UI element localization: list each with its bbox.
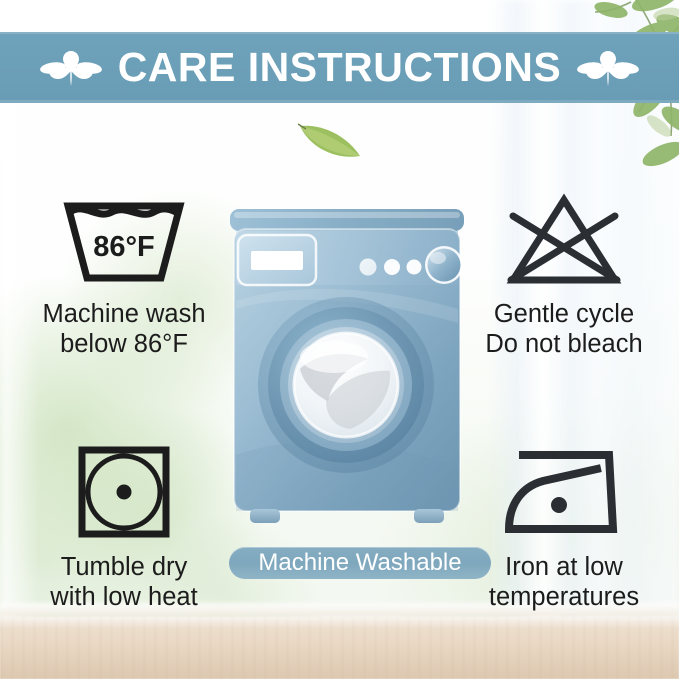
iron-icon <box>455 440 673 544</box>
wash-tub-icon: 86°F <box>14 188 234 292</box>
wash-tub-temperature-label: 86°F <box>93 231 155 263</box>
care-instructions-banner: CARE INSTRUCTIONS <box>0 32 679 103</box>
caption-line-2: temperatures <box>455 583 673 613</box>
do-not-bleach-triangle-icon <box>455 188 673 292</box>
machine-washable-badge: Machine Washable <box>229 547 491 579</box>
caption-line-1: Tumble dry <box>14 553 234 583</box>
floating-leaf-icon <box>296 116 366 162</box>
caption-line-1: Machine wash <box>14 300 234 330</box>
machine-washable-label: Machine Washable <box>258 551 461 575</box>
caption-line-2: with low heat <box>14 583 234 613</box>
wooden-table-surface <box>0 617 679 679</box>
fleur-de-lis-icon-left <box>40 44 102 92</box>
caption-line-2: Do not bleach <box>455 330 673 360</box>
care-icon-do-not-bleach: Gentle cycle Do not bleach <box>455 188 673 360</box>
care-icon-machine-wash: 86°F Machine wash below 86°F <box>14 188 234 360</box>
washing-machine-illustration <box>222 205 472 535</box>
caption-line-1: Gentle cycle <box>455 300 673 330</box>
caption-line-2: below 86°F <box>14 330 234 360</box>
care-icon-iron-low: Iron at low temperatures <box>455 440 673 613</box>
fleur-de-lis-icon-right <box>577 44 639 92</box>
tumble-dry-square-icon <box>14 440 234 544</box>
care-icon-tumble-dry: Tumble dry with low heat <box>14 440 234 613</box>
page-title: CARE INSTRUCTIONS <box>118 47 562 88</box>
